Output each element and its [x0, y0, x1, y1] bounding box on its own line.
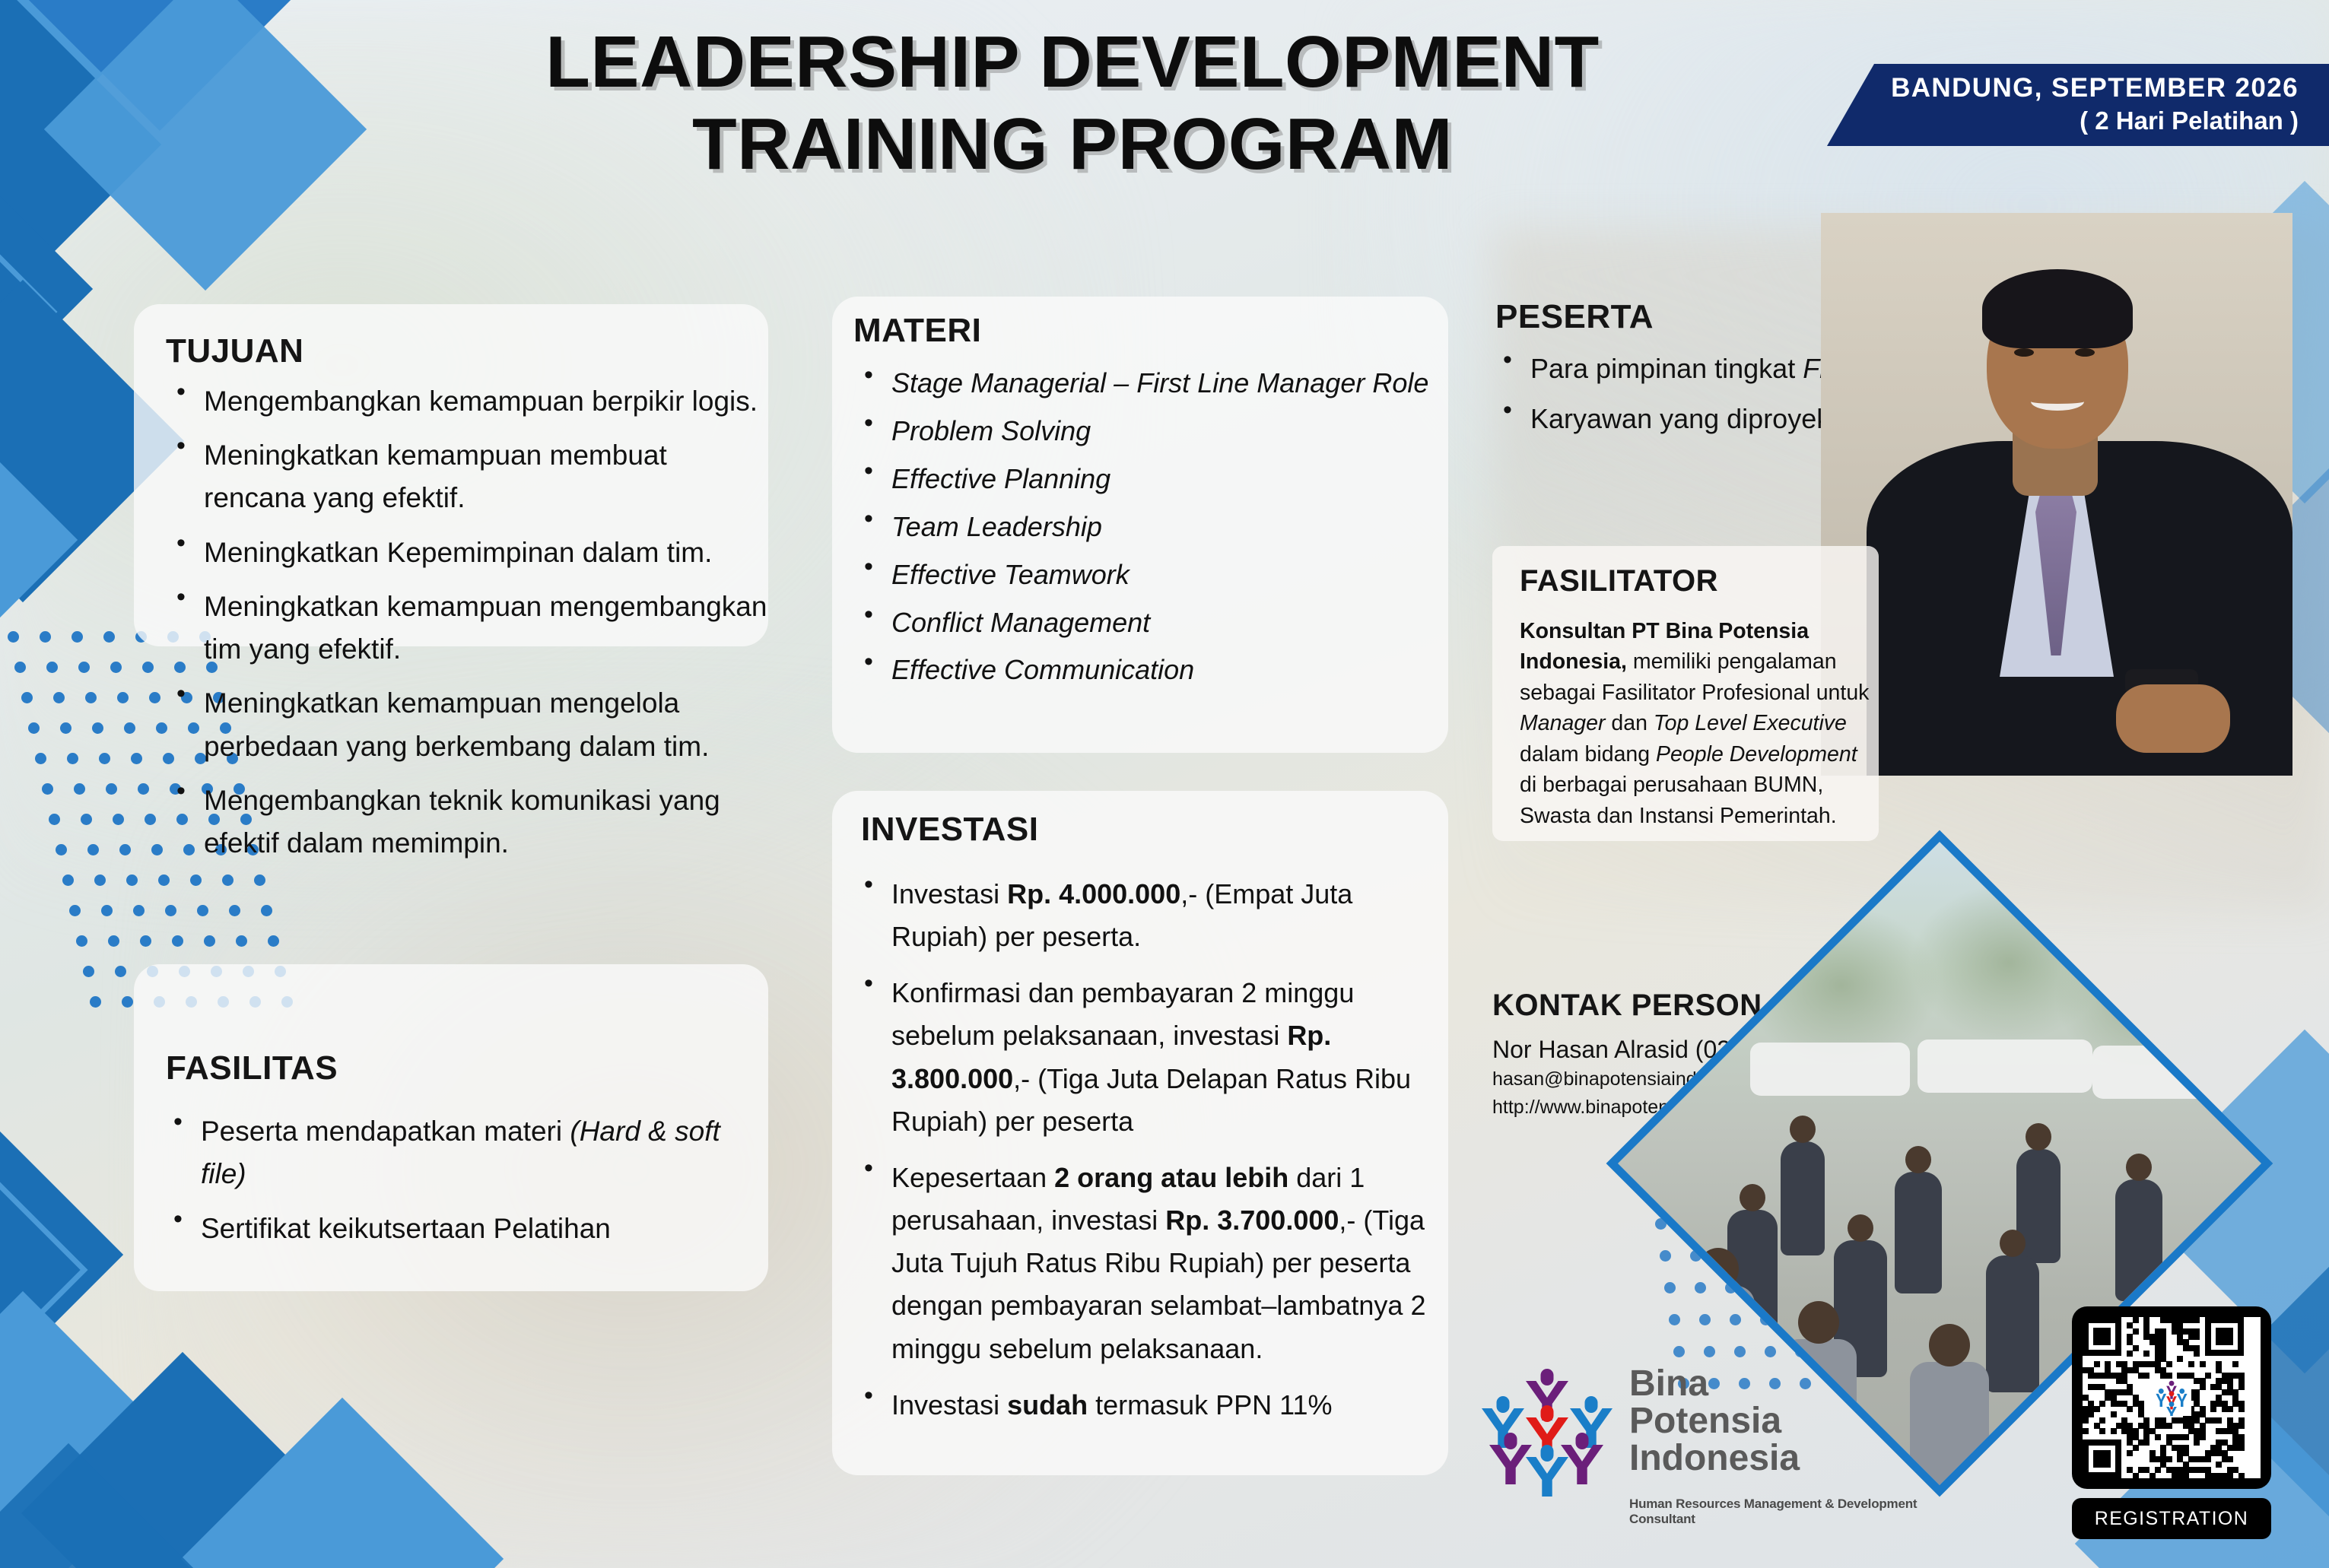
- qr-module: [2099, 1401, 2105, 1407]
- qr-module: [2200, 1434, 2206, 1440]
- registration-button[interactable]: REGISTRATION: [2072, 1498, 2271, 1539]
- qr-module: [2227, 1473, 2233, 1479]
- qr-module: [2143, 1373, 2149, 1379]
- qr-module: [2155, 1434, 2161, 1440]
- qr-module: [2099, 1428, 2105, 1434]
- qr-module: [2216, 1417, 2222, 1424]
- qr-module: [2238, 1384, 2245, 1390]
- qr-module: [2143, 1439, 2149, 1446]
- list-item: Meningkatkan kemampuan mengembangkan tim…: [169, 586, 770, 671]
- qr-module: [2238, 1423, 2245, 1429]
- qr-module: [2183, 1434, 2189, 1440]
- tujuan-list: Mengembangkan kemampuan berpikir logis.M…: [169, 380, 770, 876]
- fasilitator-heading: FASILITATOR: [1520, 564, 1718, 598]
- poster-canvas: LEADERSHIP DEVELOPMENT TRAINING PROGRAM …: [0, 0, 2329, 1568]
- qr-module: [2200, 1361, 2206, 1367]
- list-item: Mengembangkan kemampuan berpikir logis.: [169, 380, 770, 423]
- qr-module: [2133, 1473, 2139, 1479]
- list-item: Kepesertaan 2 orang atau lebih dari 1 pe…: [856, 1157, 1435, 1370]
- materi-heading: MATERI: [853, 312, 981, 350]
- qr-module: [2205, 1373, 2211, 1379]
- photo-element: [1781, 1141, 1825, 1255]
- qr-module: [2194, 1439, 2200, 1446]
- peserta-heading: PESERTA: [1495, 298, 1654, 336]
- qr-module: [2238, 1473, 2245, 1479]
- logo-tagline: Human Resources Management & Development…: [1629, 1497, 1949, 1527]
- qr-module: [2088, 1411, 2094, 1417]
- qr-module: [2166, 1423, 2172, 1429]
- kontak-heading: KONTAK PERSON: [1492, 989, 1762, 1023]
- list-item: Peserta mendapatkan materi (Hard & soft …: [166, 1110, 767, 1195]
- list-item: Investasi sudah termasuk PPN 11%: [856, 1384, 1435, 1427]
- qr-module: [2216, 1462, 2222, 1468]
- qr-module: [2133, 1345, 2139, 1351]
- list-item: Meningkatkan kemampuan membuat rencana y…: [169, 434, 770, 519]
- logo-line-3: Indonesia: [1629, 1440, 1933, 1478]
- date-banner: BANDUNG, SEPTEMBER 2026 ( 2 Hari Pelatih…: [1827, 64, 2329, 146]
- title-line-2: TRAINING PROGRAM: [487, 103, 1658, 186]
- investasi-list: Investasi Rp. 4.000.000,- (Empat Juta Ru…: [856, 873, 1435, 1440]
- qr-finder-pattern: [2205, 1317, 2244, 1356]
- list-item: Effective Planning: [856, 459, 1435, 500]
- qr-module: [2133, 1328, 2139, 1335]
- qr-module: [2127, 1406, 2133, 1412]
- qr-module: [2127, 1351, 2133, 1357]
- list-item: Effective Communication: [856, 650, 1435, 690]
- qr-module: [2200, 1384, 2206, 1390]
- qr-module: [2111, 1411, 2117, 1417]
- list-item: Stage Managerial – First Line Manager Ro…: [856, 363, 1435, 404]
- qr-module: [2166, 1456, 2172, 1462]
- logo-line-2: Potensia: [1629, 1403, 1933, 1440]
- list-item: Problem Solving: [856, 411, 1435, 452]
- qr-finder-pattern: [2083, 1317, 2121, 1356]
- qr-code[interactable]: [2072, 1306, 2271, 1489]
- qr-module: [2238, 1445, 2245, 1451]
- qr-module: [2111, 1428, 2117, 1434]
- fasilitas-list: Peserta mendapatkan materi (Hard & soft …: [166, 1110, 767, 1263]
- qr-module: [2183, 1473, 2189, 1479]
- qr-module: [2194, 1334, 2200, 1340]
- qr-module: [2205, 1456, 2211, 1462]
- list-item: Mengembangkan teknik komunikasi yang efe…: [169, 779, 770, 865]
- facilitator-photo: [1821, 213, 2292, 776]
- photo-element: [1918, 1040, 2092, 1093]
- qr-module: [2083, 1428, 2089, 1434]
- photo-element: [1986, 1255, 2039, 1392]
- list-item: Team Leadership: [856, 507, 1435, 548]
- page-title: LEADERSHIP DEVELOPMENT TRAINING PROGRAM: [487, 21, 1658, 185]
- logo-wordmark: Bina Potensia Indonesia: [1629, 1366, 1933, 1478]
- registration-block[interactable]: REGISTRATION: [2072, 1306, 2277, 1542]
- title-line-1: LEADERSHIP DEVELOPMENT: [487, 21, 1658, 103]
- tujuan-heading: TUJUAN: [166, 332, 303, 370]
- qr-module: [2166, 1361, 2172, 1367]
- fasilitas-heading: FASILITAS: [166, 1049, 338, 1087]
- person-figure-icon: [1526, 1445, 1568, 1497]
- qr-module: [2094, 1361, 2100, 1367]
- photo-element: [1750, 1043, 1910, 1096]
- qr-finder-pattern: [2083, 1439, 2121, 1478]
- qr-module: [2155, 1467, 2161, 1473]
- fasilitator-description: Konsultan PT Bina Potensia Indonesia, me…: [1520, 616, 1877, 831]
- list-item: Meningkatkan Kepemimpinan dalam tim.: [169, 532, 770, 574]
- list-item: Conflict Management: [856, 603, 1435, 643]
- qr-module: [2094, 1406, 2100, 1412]
- qr-module: [2210, 1406, 2216, 1412]
- qr-module: [2133, 1317, 2139, 1323]
- event-duration: ( 2 Hari Pelatihan ): [1827, 106, 2299, 135]
- qr-module: [2133, 1445, 2139, 1451]
- list-item: Konfirmasi dan pembayaran 2 minggu sebel…: [856, 972, 1435, 1143]
- qr-module: [2143, 1351, 2149, 1357]
- qr-module: [2227, 1456, 2233, 1462]
- logo-line-1: Bina: [1629, 1366, 1933, 1403]
- list-item: Sertifikat keikutsertaan Pelatihan: [166, 1208, 767, 1250]
- qr-module: [2127, 1450, 2133, 1456]
- event-date: BANDUNG, SEPTEMBER 2026: [1827, 73, 2299, 103]
- qr-module: [2194, 1317, 2200, 1323]
- qr-module: [2232, 1361, 2238, 1367]
- materi-list: Stage Managerial – First Line Manager Ro…: [856, 363, 1435, 698]
- photo-element: [1895, 1172, 1942, 1293]
- company-logo: Bina Potensia Indonesia Human Resources …: [1468, 1361, 1940, 1559]
- list-item: Effective Teamwork: [856, 555, 1435, 595]
- qr-module: [2149, 1473, 2156, 1479]
- bina-potensia-logo-icon: [1476, 1369, 1620, 1513]
- qr-module: [2188, 1361, 2194, 1367]
- list-item: Meningkatkan kemampuan mengelola perbeda…: [169, 682, 770, 767]
- qr-center-logo-icon: [2152, 1379, 2191, 1416]
- qr-module: [2238, 1406, 2245, 1412]
- investasi-heading: INVESTASI: [861, 811, 1039, 849]
- qr-module: [2227, 1406, 2233, 1412]
- qr-module: [2083, 1417, 2089, 1424]
- qr-module: [2194, 1351, 2200, 1357]
- qr-module: [2177, 1356, 2183, 1362]
- list-item: Investasi Rp. 4.000.000,- (Empat Juta Ru…: [856, 873, 1435, 958]
- qr-module: [2099, 1417, 2105, 1424]
- qr-module: [2166, 1373, 2172, 1379]
